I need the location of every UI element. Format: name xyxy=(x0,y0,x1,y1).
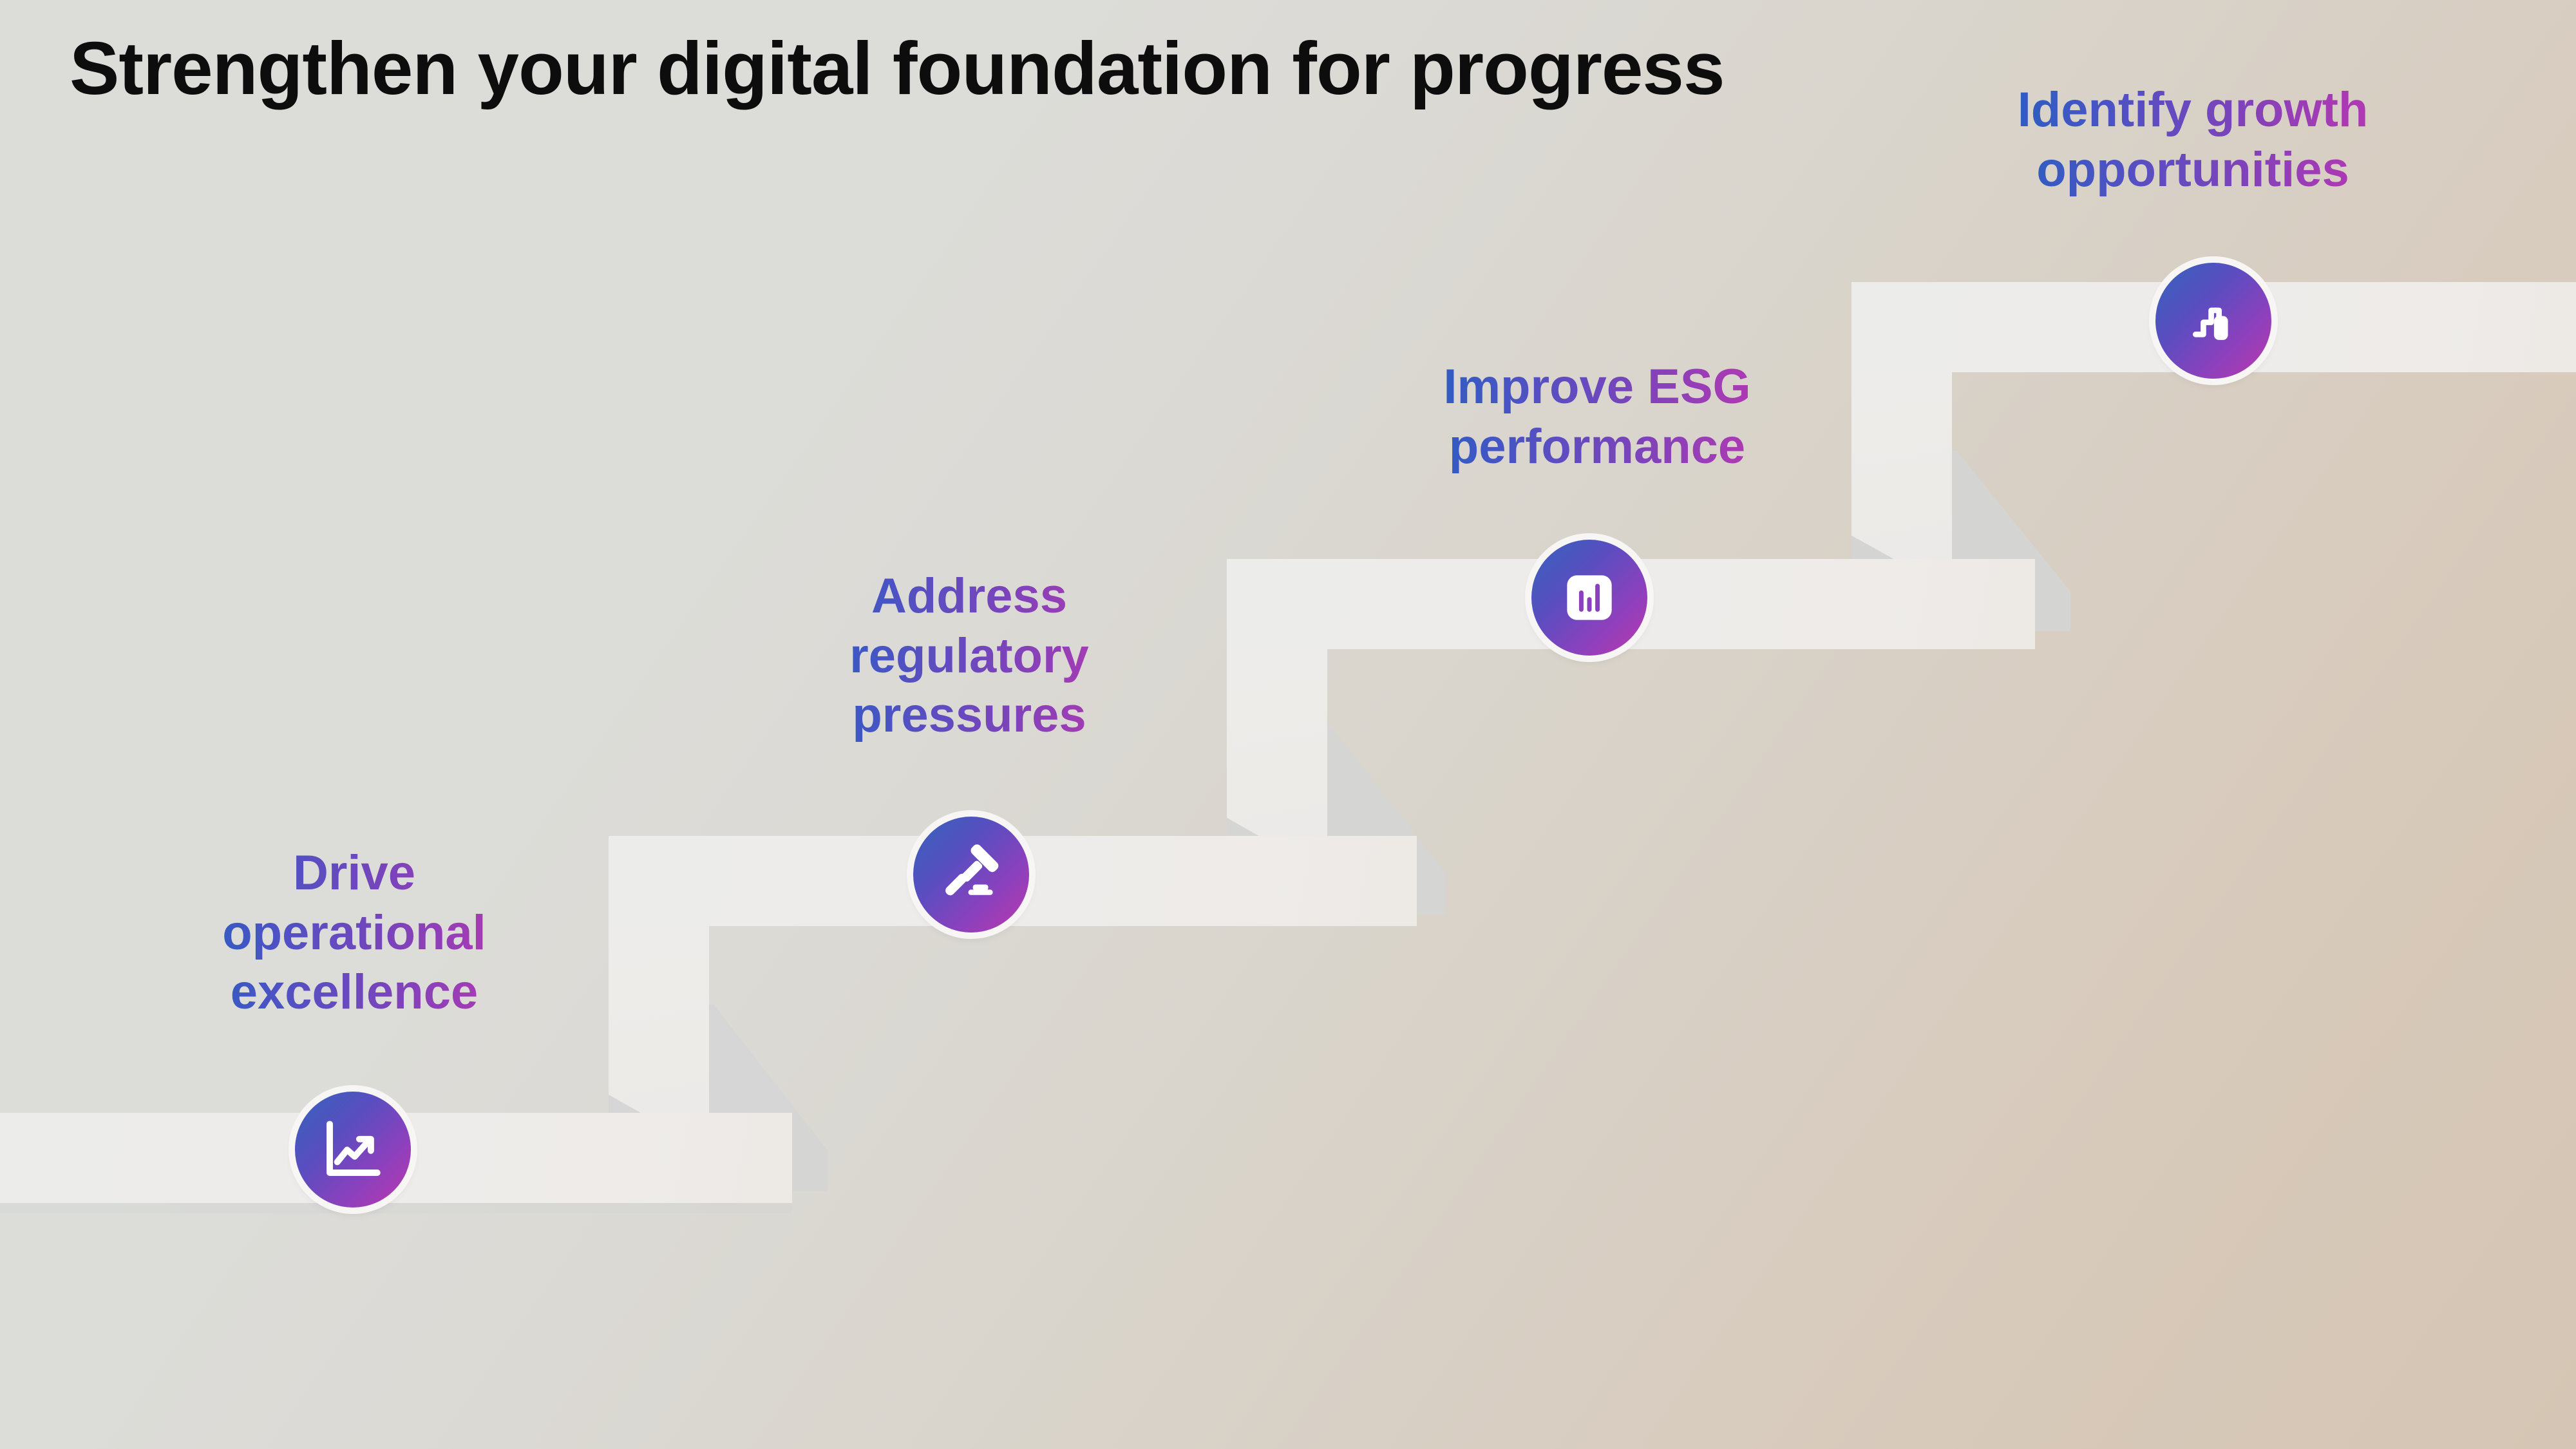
step-3-label: Improve ESG performance xyxy=(1359,357,1835,477)
step-3-label-line1: Improve ESG xyxy=(1359,357,1835,417)
step-4-label-line1: Identify growth xyxy=(1945,80,2441,140)
trending-up-chart-icon[interactable] xyxy=(295,1092,411,1207)
step-2-label: Address regulatory pressures xyxy=(744,567,1195,746)
step-4-label-line2: opportunities xyxy=(1945,140,2441,200)
step-2-label-line3: pressures xyxy=(744,686,1195,746)
growth-steps-icon[interactable] xyxy=(2155,263,2271,379)
step-2-label-line1: Address xyxy=(744,567,1195,627)
step-1-tread-shadow xyxy=(0,1203,792,1213)
page-title: Strengthen your digital foundation for p… xyxy=(70,28,1724,109)
gavel-icon[interactable] xyxy=(913,817,1029,933)
step-1-label-line3: excellence xyxy=(122,963,586,1023)
step-3-label-line2: performance xyxy=(1359,417,1835,477)
step-4-label: Identify growth opportunities xyxy=(1945,80,2441,200)
step-2-label-line2: regulatory xyxy=(744,627,1195,687)
step-1-label-line2: operational xyxy=(122,904,586,963)
bar-chart-icon[interactable] xyxy=(1531,540,1647,656)
step-1-label: Drive operational excellence xyxy=(122,844,586,1023)
slide-canvas: Strengthen your digital foundation for p… xyxy=(0,0,2576,1449)
step-1-label-line1: Drive xyxy=(122,844,586,904)
